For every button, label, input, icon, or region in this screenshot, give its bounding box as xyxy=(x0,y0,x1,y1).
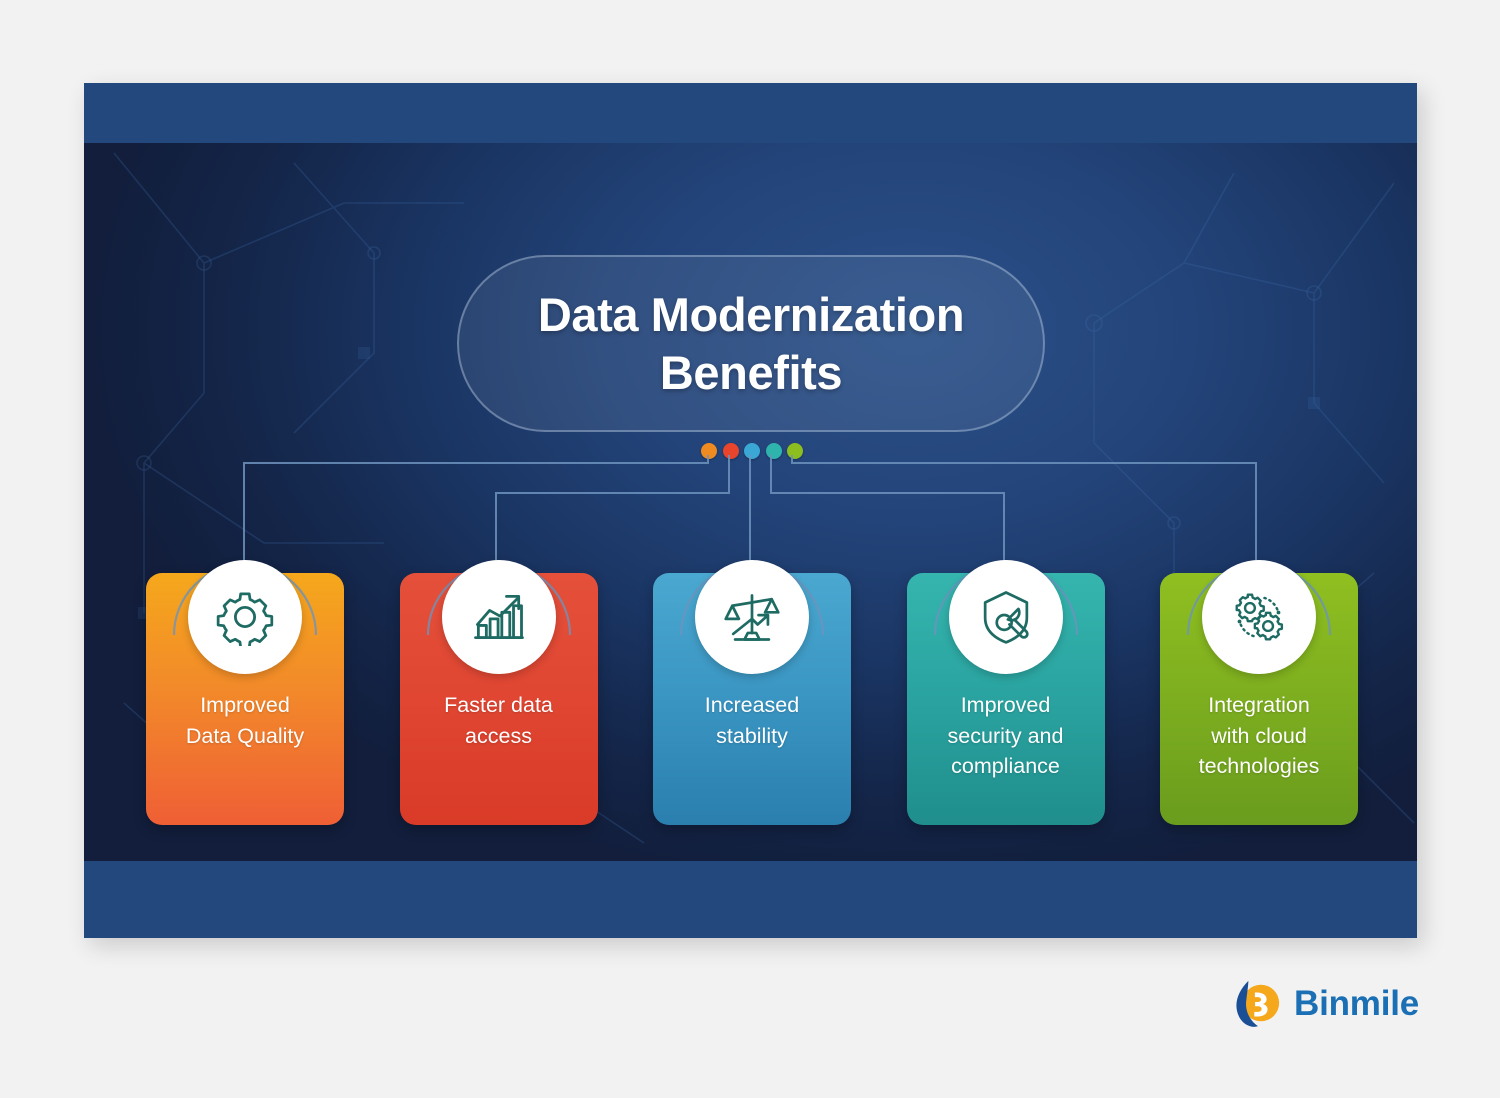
card-icon-circle xyxy=(188,560,302,674)
dot-red xyxy=(723,443,739,459)
balance-scales-icon xyxy=(722,587,782,647)
title-pill: Data ModernizationBenefits xyxy=(457,255,1045,432)
card-label: Faster data access xyxy=(408,690,590,751)
card-icon-circle xyxy=(442,560,556,674)
binmile-logo-icon xyxy=(1232,978,1282,1030)
slide-bottom-band xyxy=(84,861,1417,938)
card-label: Integration with cloud technologies xyxy=(1168,690,1350,782)
card-icon-circle xyxy=(695,560,809,674)
card-label: Improved security and compliance xyxy=(915,690,1097,782)
slide-canvas: Data ModernizationBenefits xyxy=(84,143,1417,861)
dot-green xyxy=(787,443,803,459)
benefit-card-improved-data-quality[interactable]: Improved Data Quality xyxy=(146,555,344,825)
connected-gears-icon xyxy=(1230,588,1288,646)
growth-bar-chart-icon xyxy=(469,587,529,647)
page-root: Data ModernizationBenefits xyxy=(0,0,1500,1098)
dot-blue xyxy=(744,443,760,459)
gear-icon xyxy=(216,588,274,646)
slide-top-band xyxy=(84,83,1417,143)
benefit-card-faster-data-access[interactable]: Faster data access xyxy=(400,555,598,825)
page-title: Data ModernizationBenefits xyxy=(516,286,986,401)
title-line-1: Data Modernization xyxy=(538,288,964,341)
card-label: Increased stability xyxy=(661,690,843,751)
shield-wrench-icon xyxy=(977,588,1035,646)
infographic-slide: Data ModernizationBenefits xyxy=(84,83,1417,938)
card-label: Improved Data Quality xyxy=(154,690,336,751)
benefit-card-improved-security-and-compliance[interactable]: Improved security and compliance xyxy=(907,555,1105,825)
card-icon-circle xyxy=(949,560,1063,674)
brand-name: Binmile xyxy=(1294,984,1419,1024)
dot-orange xyxy=(701,443,717,459)
color-dots-row xyxy=(701,441,803,461)
benefit-cards-row: Improved Data Quality xyxy=(146,555,1358,825)
dot-teal xyxy=(766,443,782,459)
binmile-brand: Binmile xyxy=(1232,978,1419,1030)
benefit-card-increased-stability[interactable]: Increased stability xyxy=(653,555,851,825)
title-line-2: Benefits xyxy=(660,346,842,399)
benefit-card-integration-with-cloud-technologies[interactable]: Integration with cloud technologies xyxy=(1160,555,1358,825)
card-icon-circle xyxy=(1202,560,1316,674)
